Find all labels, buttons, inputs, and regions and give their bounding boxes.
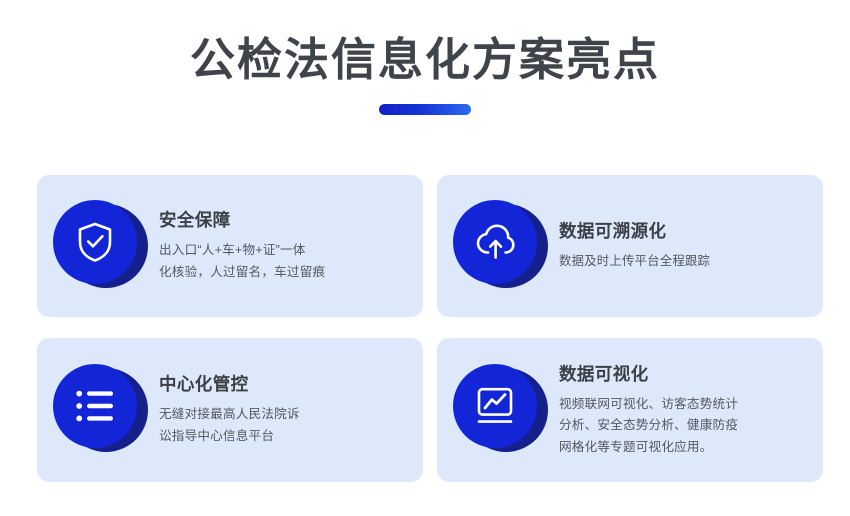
bullet-list-icon [75, 389, 115, 423]
card-title: 中心化管控 [159, 374, 405, 395]
card-body: 中心化管控 无缝对接最高人民法院诉 讼指导中心信息平台 [159, 372, 405, 447]
card-description: 出入口“人+车+物+证”一体 化核验，人过留名，车过留痕 [159, 240, 405, 283]
feature-card-visualization[interactable]: 数据可视化 视频联网可视化、访客态势统计 分析、安全态势分析、健康防疫 网格化等… [437, 338, 823, 482]
feature-card-centralized-control[interactable]: 中心化管控 无缝对接最高人民法院诉 讼指导中心信息平台 [37, 338, 423, 482]
card-body: 数据可视化 视频联网可视化、访客态势统计 分析、安全态势分析、健康防疫 网格化等… [559, 362, 805, 459]
card-body: 安全保障 出入口“人+车+物+证”一体 化核验，人过留名，车过留痕 [159, 208, 405, 283]
page-header: 公检法信息化方案亮点 [0, 0, 850, 115]
card-title: 数据可溯源化 [559, 221, 805, 242]
icon-badge [53, 200, 145, 292]
icon-disc [53, 364, 137, 448]
card-description: 无缝对接最高人民法院诉 讼指导中心信息平台 [159, 404, 405, 447]
page-title: 公检法信息化方案亮点 [0, 34, 850, 86]
page-root: 公检法信息化方案亮点 安全保障 出入口“人+车+物+证”一体 化核验，人过留名，… [0, 0, 850, 516]
title-underline-bar [379, 104, 471, 115]
icon-disc [453, 200, 537, 284]
card-title: 数据可视化 [559, 364, 805, 385]
icon-disc [53, 200, 137, 284]
icon-badge [453, 364, 545, 456]
feature-card-grid: 安全保障 出入口“人+车+物+证”一体 化核验，人过留名，车过留痕 数据可溯源化… [37, 175, 823, 482]
feature-card-security[interactable]: 安全保障 出入口“人+车+物+证”一体 化核验，人过留名，车过留痕 [37, 175, 423, 317]
chart-monitor-icon [474, 386, 516, 426]
card-title: 安全保障 [159, 210, 405, 231]
shield-check-icon [75, 221, 115, 263]
card-body: 数据可溯源化 数据及时上传平台全程跟踪 [559, 219, 805, 272]
card-description: 数据及时上传平台全程跟踪 [559, 251, 805, 272]
icon-disc [453, 364, 537, 448]
feature-card-traceability[interactable]: 数据可溯源化 数据及时上传平台全程跟踪 [437, 175, 823, 317]
icon-badge [53, 364, 145, 456]
icon-badge [453, 200, 545, 292]
card-description: 视频联网可视化、访客态势统计 分析、安全态势分析、健康防疫 网格化等专题可视化应… [559, 394, 805, 459]
cloud-upload-icon [473, 221, 517, 263]
